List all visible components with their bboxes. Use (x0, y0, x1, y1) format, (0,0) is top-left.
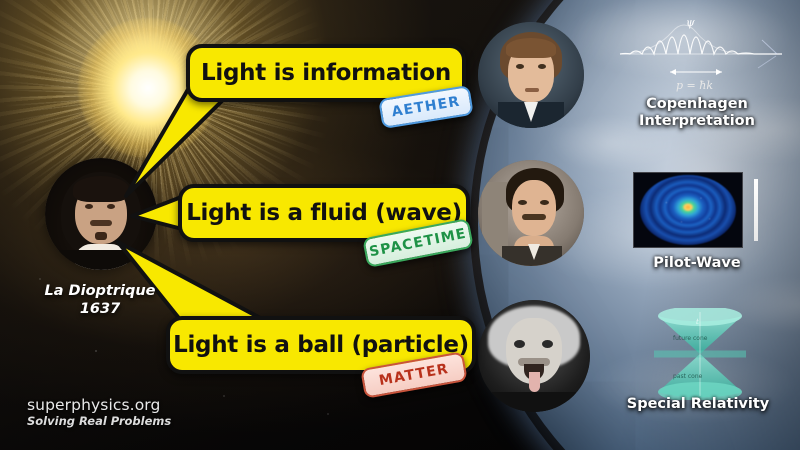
svg-text:t: t (696, 318, 699, 326)
speech-bubble-3-text: Light is a ball (particle) (173, 332, 469, 358)
theory-label-copenhagen-line1: Copenhagen (608, 96, 786, 113)
theory-label-pilot-wave: Pilot-Wave (612, 255, 782, 272)
speech-bubble-1-text: Light is information (201, 60, 451, 86)
tag-aether-label: AETHER (391, 94, 462, 121)
svg-text:ψ: ψ (686, 16, 695, 29)
source-caption: La Dioptrique 1637 (20, 282, 180, 318)
theory-label-special-relativity-line1: Special Relativity (600, 396, 796, 413)
watermark[interactable]: superphysics.org Solving Real Problems (27, 396, 171, 428)
theory-label-copenhagen: Copenhagen Interpretation (608, 96, 786, 129)
interference-pattern-image (633, 172, 743, 248)
colorbar (754, 179, 758, 241)
light-cone-diagram: t future cone past cone (640, 308, 760, 400)
interference-grain (634, 173, 742, 247)
watermark-site: superphysics.org (27, 396, 171, 414)
theory-label-pilot-wave-line1: Pilot-Wave (612, 255, 782, 272)
watermark-tagline: Solving Real Problems (27, 414, 171, 428)
theory-label-special-relativity: Special Relativity (600, 396, 796, 413)
wave-packet-diagram: ψ p = ħk (612, 10, 792, 96)
slide-canvas: La Dioptrique 1637 Light is information … (0, 0, 800, 450)
tag-matter-label: MATTER (378, 361, 450, 389)
svg-text:future cone: future cone (673, 335, 708, 342)
source-year: 1637 (20, 300, 180, 318)
source-title: La Dioptrique (20, 282, 180, 300)
svg-text:past cone: past cone (673, 373, 703, 380)
theory-label-copenhagen-line2: Interpretation (608, 113, 786, 130)
svg-text:p = ħk: p = ħk (676, 79, 713, 92)
speech-bubble-2-text: Light is a fluid (wave) (186, 200, 462, 226)
